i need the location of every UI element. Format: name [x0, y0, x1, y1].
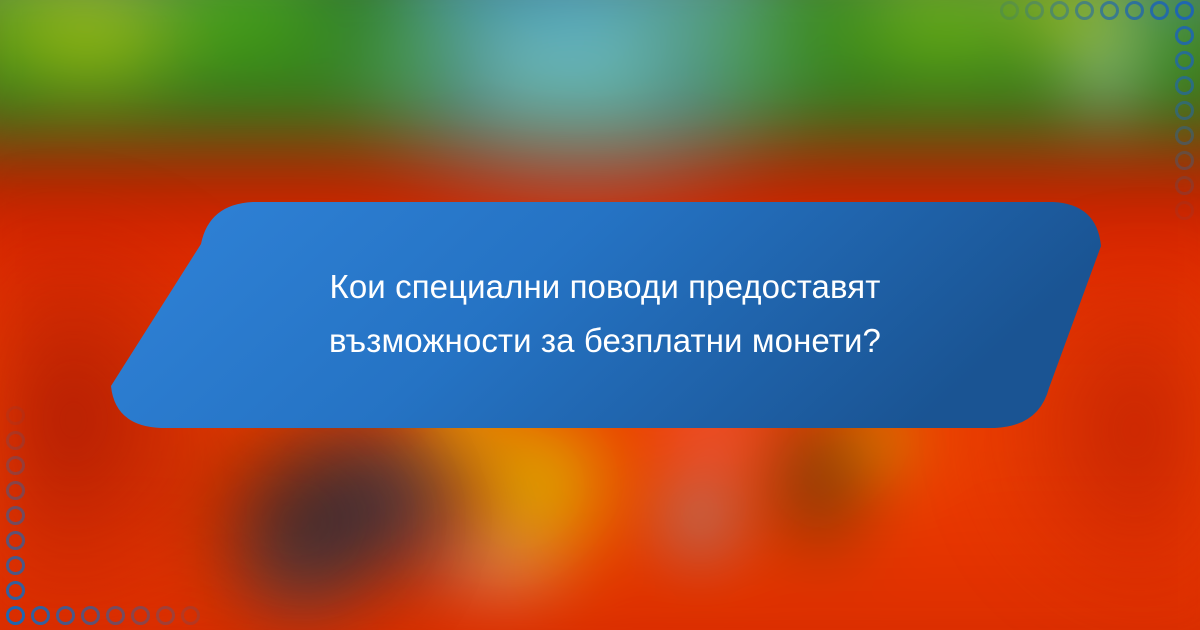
headline-line-2: възможности за безплатни монети?	[329, 322, 881, 360]
ring-bottom-7	[181, 606, 200, 625]
ring-left-2	[6, 556, 25, 575]
ring-top-6	[1025, 1, 1044, 20]
ring-right-8	[1175, 201, 1194, 220]
ring-decoration-top-right	[1000, 0, 1200, 200]
ring-top-3	[1100, 1, 1119, 20]
ring-top-7	[1000, 1, 1019, 20]
headline-line-1: Кои специални поводи предоставят	[330, 268, 881, 306]
ring-right-1	[1175, 26, 1194, 45]
ring-top-5	[1050, 1, 1069, 20]
ring-left-1	[6, 581, 25, 600]
ring-top-4	[1075, 1, 1094, 20]
ring-bottom-0	[6, 606, 25, 625]
ring-right-4	[1175, 101, 1194, 120]
ring-bottom-3	[81, 606, 100, 625]
ring-right-6	[1175, 151, 1194, 170]
ring-top-2	[1125, 1, 1144, 20]
ring-right-2	[1175, 51, 1194, 70]
ring-bottom-5	[131, 606, 150, 625]
ring-right-7	[1175, 176, 1194, 195]
ring-left-5	[6, 481, 25, 500]
ring-right-5	[1175, 126, 1194, 145]
ring-right-3	[1175, 76, 1194, 95]
ring-bottom-1	[31, 606, 50, 625]
ring-bottom-4	[106, 606, 125, 625]
ring-top-1	[1150, 1, 1169, 20]
ring-left-6	[6, 456, 25, 475]
ring-bottom-2	[56, 606, 75, 625]
ring-left-4	[6, 506, 25, 525]
ring-bottom-6	[156, 606, 175, 625]
ring-left-7	[6, 431, 25, 450]
ring-top-0	[1175, 1, 1194, 20]
ring-left-3	[6, 531, 25, 550]
caption-text: Кои специални поводи предоставят възможн…	[150, 196, 1060, 432]
ring-decoration-bottom-left	[0, 430, 200, 630]
poster-canvas: Кои специални поводи предоставят възможн…	[0, 0, 1200, 630]
ring-left-8	[6, 406, 25, 425]
